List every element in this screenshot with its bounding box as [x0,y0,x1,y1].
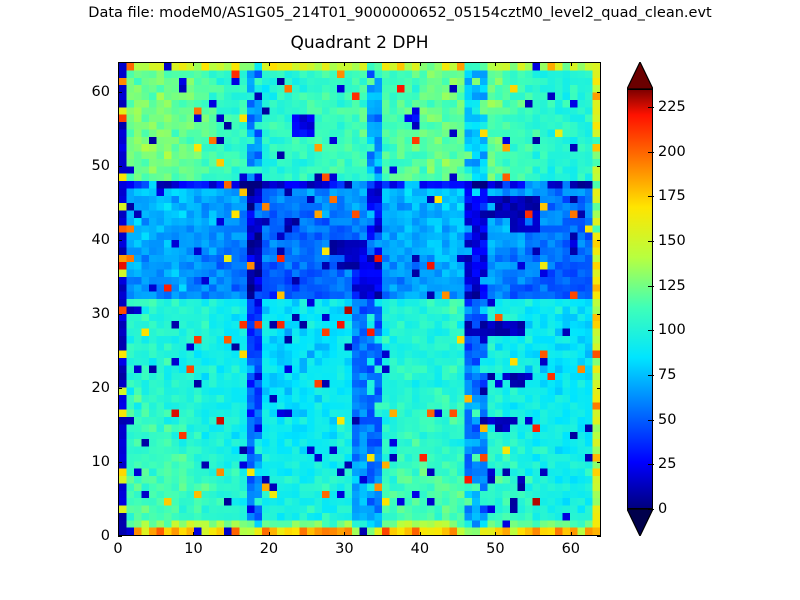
colorbar-tick-mark [648,375,654,376]
x-tick-label: 10 [184,541,202,557]
x-tick-mark [193,532,194,536]
colorbar-gradient [628,90,652,508]
x-tick-mark [495,532,496,536]
x-tick-label: 60 [562,541,580,557]
y-tick-mark [597,388,601,389]
y-tick-mark [118,536,122,537]
x-tick-mark [118,62,119,66]
colorbar-tick-mark [648,420,654,421]
colorbar-tick-mark [648,286,654,287]
colorbar-tick-mark [648,241,654,242]
colorbar-tick-mark [648,330,654,331]
colorbar-tick-label: 25 [658,456,676,472]
y-tick-mark [118,240,122,241]
colorbar-tick-mark [648,509,654,510]
y-tick-mark [597,536,601,537]
x-tick-label: 30 [335,541,353,557]
colorbar-tick-label: 125 [658,278,686,294]
x-tick-mark [571,532,572,536]
heatmap-image[interactable] [119,63,600,535]
data-file-label: Data file: modeM0/AS1G05_214T01_90000006… [0,5,800,21]
x-tick-mark [420,62,421,66]
x-tick-mark [420,532,421,536]
y-tick-label: 20 [0,380,110,396]
colorbar-tick-label: 50 [658,412,676,428]
page-title: Quadrant 2 DPH [118,33,601,53]
colorbar-extend-high-icon [627,62,653,89]
x-tick-mark [344,532,345,536]
y-tick-mark [118,314,122,315]
y-tick-label: 30 [0,306,110,322]
y-tick-mark [597,166,601,167]
colorbar-tick-mark [648,107,654,108]
y-tick-mark [597,314,601,315]
figure-canvas: Data file: modeM0/AS1G05_214T01_90000006… [0,0,800,600]
y-tick-label: 60 [0,84,110,100]
y-tick-label: 0 [0,528,110,544]
x-tick-mark [495,62,496,66]
colorbar-tick-label: 175 [658,188,686,204]
y-tick-mark [118,166,122,167]
y-tick-mark [597,240,601,241]
x-tick-mark [269,532,270,536]
x-tick-label: 20 [260,541,278,557]
y-tick-mark [118,462,122,463]
colorbar-tick-label: 225 [658,99,686,115]
x-tick-mark [571,62,572,66]
heatmap-axes[interactable] [118,62,601,536]
x-tick-mark [269,62,270,66]
x-tick-label: 40 [411,541,429,557]
x-tick-mark [193,62,194,66]
colorbar-tick-mark [648,196,654,197]
colorbar-extend-low-icon [627,509,653,536]
y-tick-label: 50 [0,158,110,174]
colorbar-tick-label: 100 [658,322,686,338]
y-tick-mark [118,388,122,389]
x-tick-mark [344,62,345,66]
colorbar-tick-mark [648,152,654,153]
y-tick-label: 40 [0,232,110,248]
colorbar-tick-label: 200 [658,144,686,160]
x-tick-label: 0 [113,541,122,557]
x-tick-label: 50 [486,541,504,557]
colorbar-tick-label: 150 [658,233,686,249]
colorbar-tick-mark [648,464,654,465]
y-tick-mark [597,92,601,93]
y-tick-label: 10 [0,454,110,470]
colorbar-tick-label: 75 [658,367,676,383]
y-tick-mark [118,92,122,93]
y-tick-mark [597,462,601,463]
colorbar-tick-label: 0 [658,501,667,517]
